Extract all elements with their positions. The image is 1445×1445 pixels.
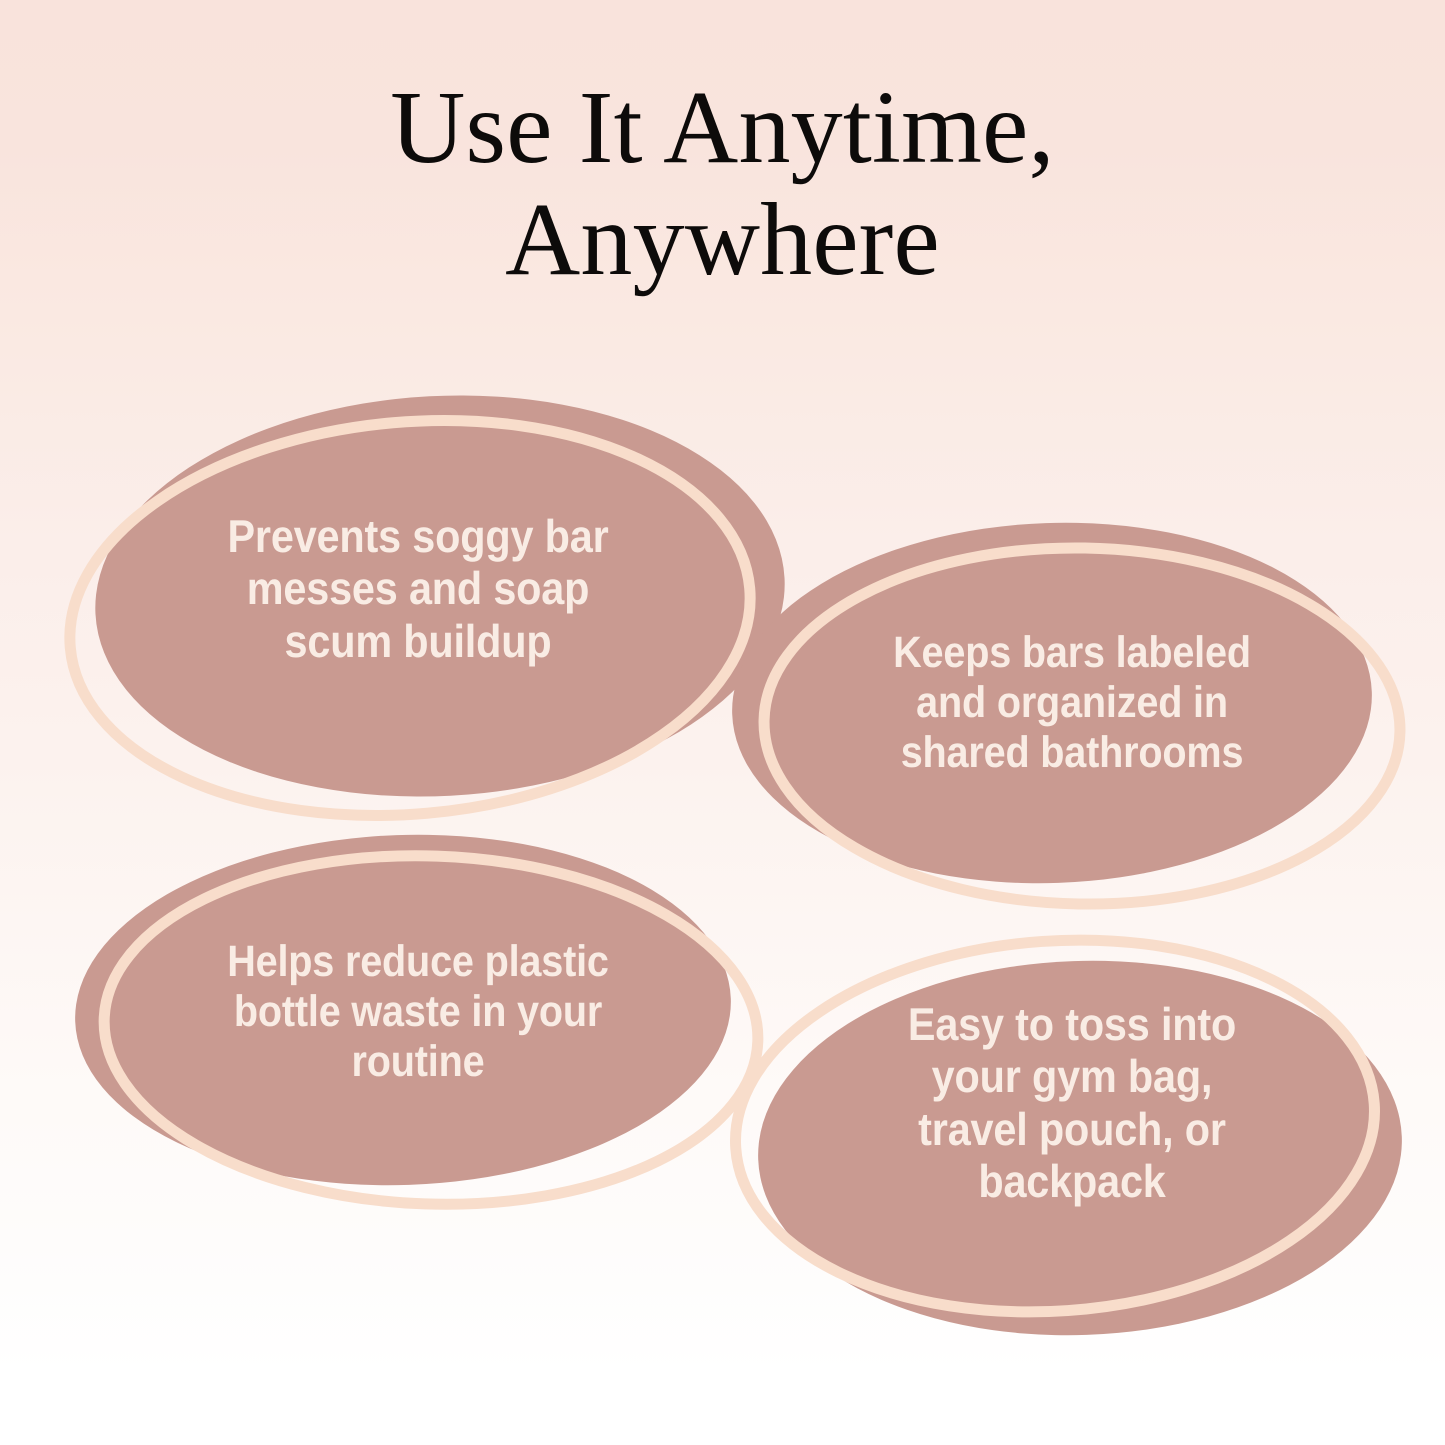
benefit-oval-shape-2 [722,518,1422,928]
benefit-card-portable: Easy to toss into your gym bag, travel p… [722,930,1422,1350]
benefits-poster: Use It Anytime, Anywhere Prevents soggy … [0,0,1445,1445]
oval-fill-4 [752,950,1409,1346]
benefit-card-labeled-organized: Keeps bars labeled and organized in shar… [722,518,1422,928]
benefit-card-reduce-plastic: Helps reduce plastic bottle waste in you… [48,832,788,1222]
benefit-oval-shape-1 [48,390,788,820]
page-title-line-1: Use It Anytime, [0,72,1445,184]
oval-fill-2 [726,512,1378,894]
oval-fill-3 [69,824,737,1197]
page-title-line-2: Anywhere [0,184,1445,296]
benefit-oval-shape-4 [722,930,1422,1350]
benefit-card-soggy-bar: Prevents soggy bar messes and soap scum … [48,390,788,820]
oval-fill-1 [85,378,795,814]
benefit-oval-shape-3 [48,832,788,1222]
page-title: Use It Anytime, Anywhere [0,72,1445,297]
